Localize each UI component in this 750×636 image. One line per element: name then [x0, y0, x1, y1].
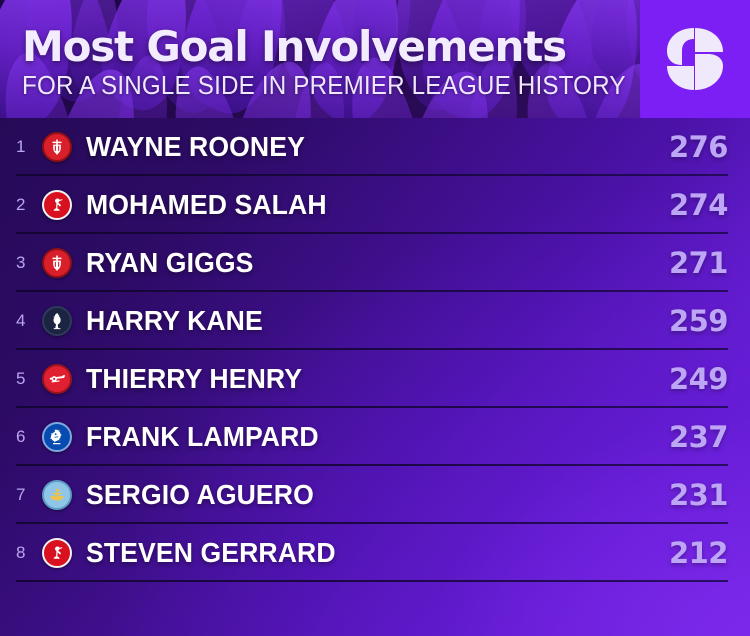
row-value: 231 [669, 481, 728, 510]
row-player-name: WAYNE ROONEY [86, 133, 640, 161]
man-city-badge-icon [42, 480, 72, 510]
row-value: 271 [669, 249, 728, 278]
row-rank: 6 [16, 427, 42, 447]
table-row[interactable]: 4HARRY KANE259 [0, 292, 750, 350]
row-player-name: HARRY KANE [86, 307, 640, 335]
row-rank: 8 [16, 543, 42, 563]
row-rank: 7 [16, 485, 42, 505]
row-player-name: STEVEN GERRARD [86, 539, 640, 567]
row-value: 259 [669, 307, 728, 336]
row-rank: 5 [16, 369, 42, 389]
table-row[interactable]: 8STEVEN GERRARD212 [0, 524, 750, 582]
table-row[interactable]: 1WAYNE ROONEY276 [0, 118, 750, 176]
header-text-block: Most Goal Involvements FOR A SINGLE SIDE… [0, 0, 671, 118]
page-subtitle: FOR A SINGLE SIDE IN PREMIER LEAGUE HIST… [22, 72, 626, 99]
liverpool-badge-icon [42, 190, 72, 220]
ranking-list: 1WAYNE ROONEY2762MOHAMED SALAH2743RYAN G… [0, 118, 750, 582]
chelsea-badge-icon [42, 422, 72, 452]
row-player-name: FRANK LAMPARD [86, 423, 640, 451]
table-row[interactable]: 6FRANK LAMPARD237 [0, 408, 750, 466]
table-row[interactable]: 7SERGIO AGUERO231 [0, 466, 750, 524]
row-rank: 1 [16, 137, 42, 157]
header-banner: Most Goal Involvements FOR A SINGLE SIDE… [0, 0, 750, 118]
row-player-name: MOHAMED SALAH [86, 191, 640, 219]
row-value: 212 [669, 539, 728, 568]
tottenham-badge-icon [42, 306, 72, 336]
infographic-root: Most Goal Involvements FOR A SINGLE SIDE… [0, 0, 750, 636]
man-utd-badge-icon [42, 132, 72, 162]
row-rank: 3 [16, 253, 42, 273]
squawka-s-logo-icon [664, 26, 726, 92]
table-row[interactable]: 5THIERRY HENRY249 [0, 350, 750, 408]
liverpool-badge-icon [42, 538, 72, 568]
row-value: 276 [669, 133, 728, 162]
brand-logo [640, 0, 750, 118]
row-player-name: RYAN GIGGS [86, 249, 640, 277]
row-rank: 4 [16, 311, 42, 331]
page-title: Most Goal Involvements [22, 26, 671, 69]
row-value: 237 [669, 423, 728, 452]
man-utd-badge-icon [42, 248, 72, 278]
table-row[interactable]: 2MOHAMED SALAH274 [0, 176, 750, 234]
arsenal-badge-icon [42, 364, 72, 394]
row-rank: 2 [16, 195, 42, 215]
row-value: 249 [669, 365, 728, 394]
row-value: 274 [669, 191, 728, 220]
row-player-name: SERGIO AGUERO [86, 481, 640, 509]
row-player-name: THIERRY HENRY [86, 365, 640, 393]
table-row[interactable]: 3RYAN GIGGS271 [0, 234, 750, 292]
